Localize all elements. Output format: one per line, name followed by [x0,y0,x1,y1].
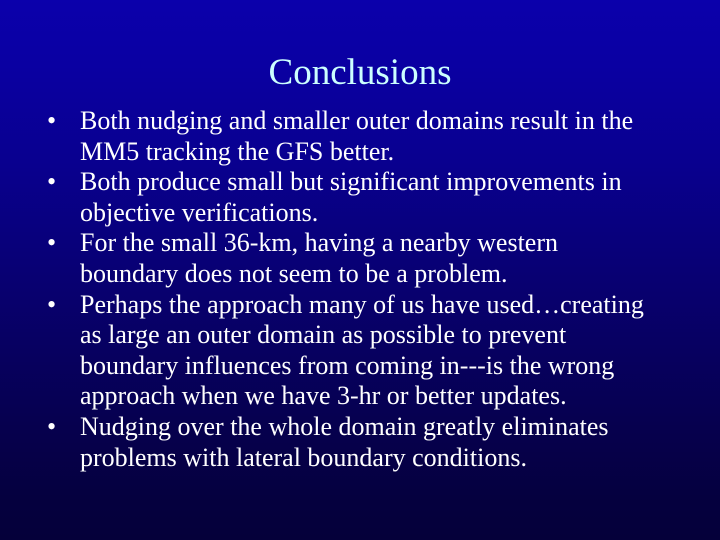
list-item-text: Nudging over the whole domain greatly el… [80,412,696,473]
list-item-text: Both produce small but significant impro… [80,167,696,228]
list-item: • Both nudging and smaller outer domains… [36,106,696,167]
list-item-text: For the small 36-km, having a nearby wes… [80,228,696,289]
list-item-text: Perhaps the approach many of us have use… [80,290,696,412]
bullet-point-icon: • [47,167,63,198]
list-item: • Nudging over the whole domain greatly … [36,412,696,473]
list-item: • Both produce small but significant imp… [36,167,696,228]
slide-title: Conclusions [0,51,720,95]
list-item: • Perhaps the approach many of us have u… [36,290,696,412]
list-item: • For the small 36-km, having a nearby w… [36,228,696,289]
presentation-slide: Conclusions • Both nudging and smaller o… [0,0,720,540]
bullet-point-icon: • [47,412,63,443]
bullet-point-icon: • [47,290,63,321]
list-item-text: Both nudging and smaller outer domains r… [80,106,696,167]
bullet-point-icon: • [47,106,63,137]
bullet-point-icon: • [47,228,63,259]
slide-body-bullet-list: • Both nudging and smaller outer domains… [36,106,696,473]
